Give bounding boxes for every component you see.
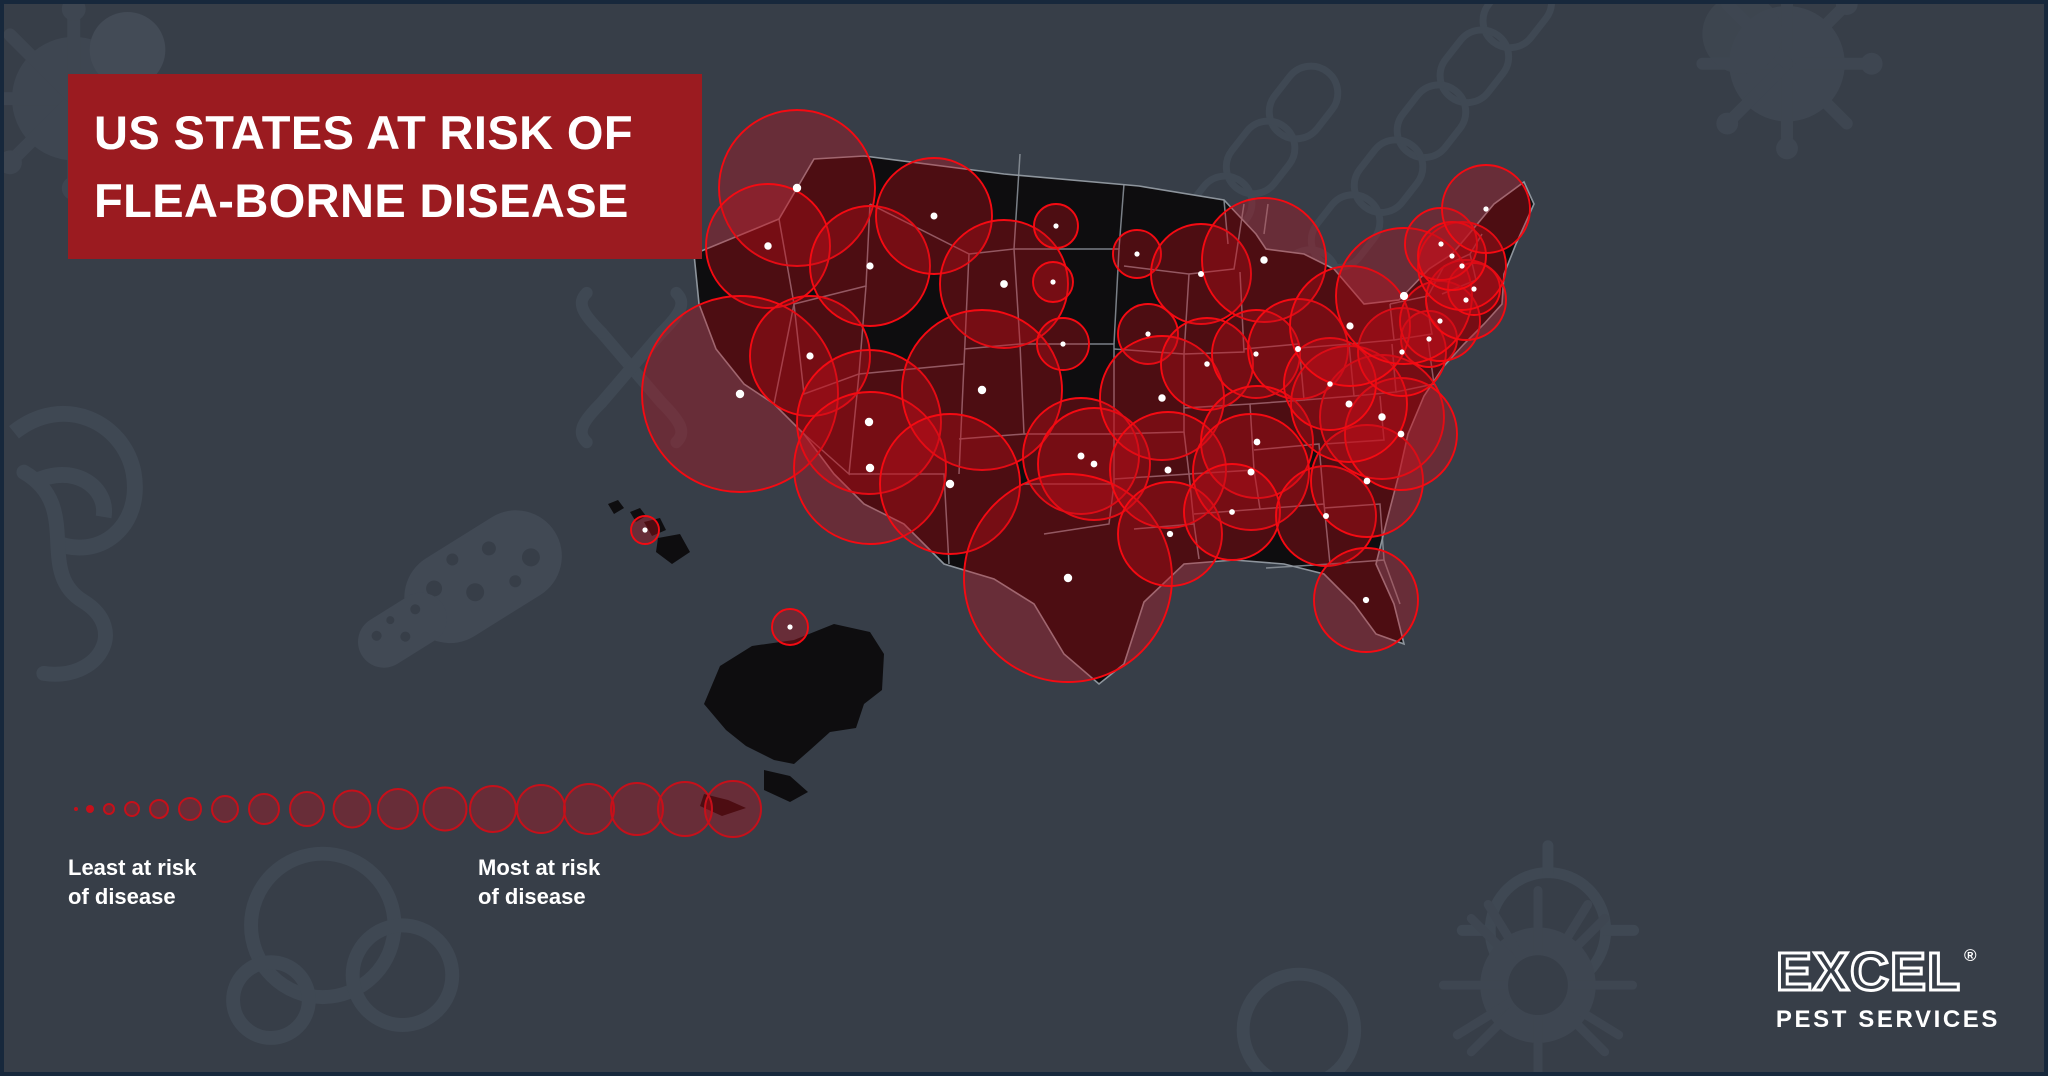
risk-center-dot [1378, 413, 1385, 420]
risk-center-dot [946, 480, 954, 488]
legend-circle [333, 790, 372, 829]
risk-center-dot [1145, 331, 1150, 336]
legend-circle [211, 795, 239, 823]
infographic-root: US STATES AT RISK OF FLEA-BORNE DISEASE [0, 0, 2048, 1076]
title-line-1: US STATES AT RISK OF [94, 99, 702, 167]
legend-circle [563, 783, 615, 835]
bacterium-icon [348, 493, 579, 678]
risk-center-dot [1167, 531, 1173, 537]
risk-center-dot [1426, 336, 1431, 341]
risk-center-dot [793, 184, 801, 192]
legend-scale [68, 779, 628, 839]
logo-wordmark: EXCEL ® [1776, 944, 2000, 1000]
risk-center-dot [1438, 241, 1443, 246]
risk-center-dot [764, 242, 771, 249]
amoeba-icon [14, 414, 135, 548]
risk-center-dot [1323, 513, 1329, 519]
risk-center-dot [1399, 349, 1404, 354]
risk-center-dot [1327, 381, 1333, 387]
legend-circle [74, 807, 78, 811]
risk-center-dot [1053, 223, 1058, 228]
risk-center-dot [1091, 461, 1098, 468]
risk-center-dot [787, 624, 792, 629]
legend-circle [124, 801, 140, 817]
legend-most-line1: Most at risk [478, 853, 600, 882]
risk-center-dot [1204, 361, 1210, 367]
risk-center-dot [1000, 280, 1008, 288]
risk-center-dot [1254, 439, 1261, 446]
risk-center-dot [1463, 297, 1468, 302]
legend-circle [178, 797, 202, 821]
risk-center-dot [1050, 279, 1055, 284]
legend: Least at risk of disease Most at risk of… [68, 779, 628, 933]
legend-labels: Least at risk of disease Most at risk of… [68, 853, 628, 933]
risk-center-dot [1060, 341, 1065, 346]
legend-circle [516, 784, 566, 834]
risk-center-dot [1471, 286, 1476, 291]
risk-center-dot [1198, 271, 1204, 277]
brand-logo: EXCEL ® PEST SERVICES [1776, 944, 2000, 1034]
legend-circle [423, 787, 468, 832]
us-risk-map [624, 124, 2044, 924]
registered-trademark-icon: ® [1964, 946, 1977, 966]
risk-center-dot [1400, 292, 1408, 300]
risk-center-dot [1229, 509, 1235, 515]
risk-center-dot [866, 262, 873, 269]
logo-excel-text: EXCEL [1776, 944, 1961, 1000]
legend-label-most: Most at risk of disease [478, 853, 600, 911]
risk-center-dot [1260, 256, 1267, 263]
legend-circle [248, 793, 280, 825]
legend-circle [469, 785, 517, 833]
legend-label-least: Least at risk of disease [68, 853, 196, 911]
risk-center-dot [806, 352, 813, 359]
risk-center-dot [1248, 469, 1255, 476]
risk-center-dot [1483, 206, 1488, 211]
risk-center-dot [1346, 401, 1353, 408]
risk-center-dot [978, 386, 986, 394]
risk-center-dot [1449, 253, 1454, 258]
legend-circle [103, 803, 115, 815]
risk-center-dot [1165, 467, 1172, 474]
legend-circle [86, 805, 94, 813]
risk-center-dot [1398, 431, 1405, 438]
legend-circle [149, 799, 169, 819]
legend-circle [610, 782, 664, 836]
legend-least-line1: Least at risk [68, 853, 196, 882]
risk-center-dot [1064, 574, 1072, 582]
risk-center-dot [736, 390, 744, 398]
risk-center-dot [642, 527, 647, 532]
legend-circle [289, 791, 325, 827]
virus-icon [1702, 4, 1782, 74]
legend-most-line2: of disease [478, 882, 600, 911]
risk-center-dot [1158, 394, 1165, 401]
risk-center-dot [1295, 346, 1301, 352]
title-line-2: FLEA-BORNE DISEASE [94, 167, 702, 235]
risk-center-dot [1364, 478, 1371, 485]
risk-center-dot [1078, 453, 1085, 460]
risk-center-dot [865, 418, 873, 426]
risk-center-dot [1346, 322, 1353, 329]
legend-circle [704, 780, 762, 838]
risk-center-dot [866, 464, 874, 472]
risk-center-dot [1437, 318, 1442, 323]
risk-center-dot [931, 213, 938, 220]
risk-center-dot [1134, 251, 1139, 256]
cell-outline-icon [1243, 974, 1355, 1076]
risk-center-dot [1459, 263, 1464, 268]
risk-center-dot [1363, 597, 1369, 603]
title-banner: US STATES AT RISK OF FLEA-BORNE DISEASE [68, 74, 702, 259]
risk-center-dot [1253, 351, 1258, 356]
legend-circle [377, 788, 419, 830]
legend-least-line2: of disease [68, 882, 196, 911]
worm-icon [24, 472, 106, 674]
logo-subtitle: PEST SERVICES [1776, 1006, 2000, 1034]
